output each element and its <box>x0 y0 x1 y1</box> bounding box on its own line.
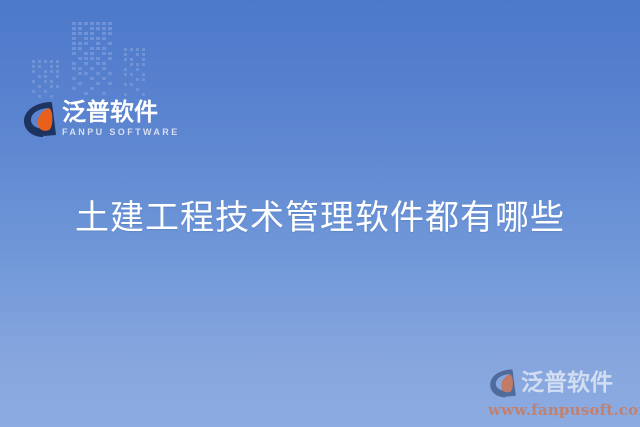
fanpu-logo-icon <box>22 99 58 139</box>
watermark-brand-name: 泛普软件 <box>521 370 613 396</box>
page-title: 土建工程技术管理软件都有哪些 <box>0 196 640 240</box>
fanpu-logo-watermark-icon <box>488 367 518 399</box>
dot-matrix-skyline-icon <box>30 16 152 100</box>
watermark-url: www.fanpusoft.com <box>488 401 634 419</box>
promo-banner: 泛普软件 FANPU SOFTWARE 土建工程技术管理软件都有哪些 泛普软件 … <box>0 0 640 427</box>
brand-text-block: 泛普软件 FANPU SOFTWARE <box>62 99 180 138</box>
watermark-logo-row: 泛普软件 <box>488 366 634 400</box>
brand-name-en: FANPU SOFTWARE <box>62 126 180 138</box>
brand-name-cn: 泛普软件 <box>62 99 180 125</box>
site-watermark: 泛普软件 www.fanpusoft.com <box>488 366 634 422</box>
fanpu-brand-lockup: 泛普软件 FANPU SOFTWARE <box>22 99 180 139</box>
